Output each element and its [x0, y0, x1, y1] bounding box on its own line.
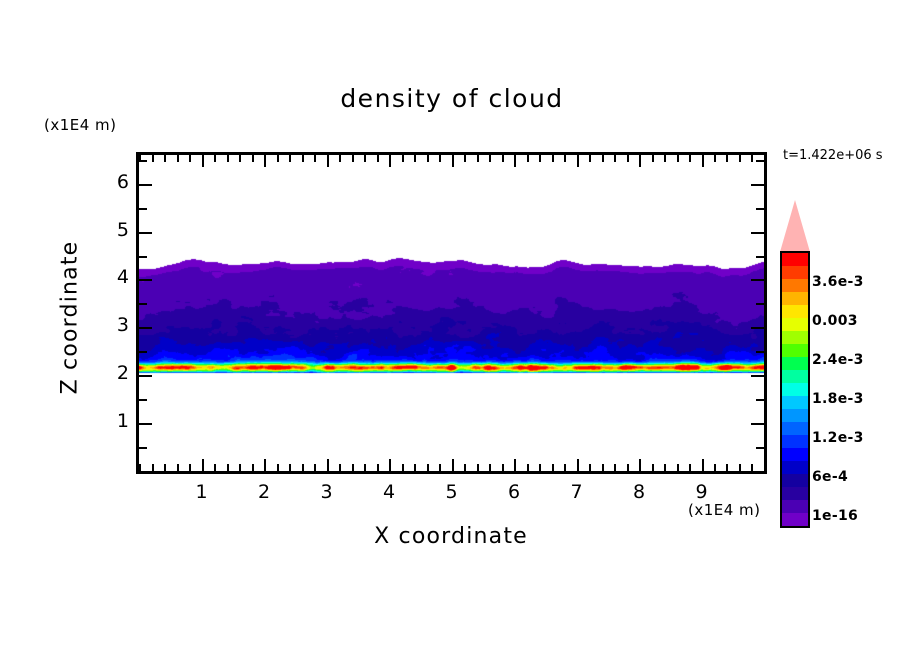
y-axis-title: Z coordinate	[58, 228, 83, 408]
x-minor-tick	[164, 464, 166, 471]
x-major-tick	[577, 459, 579, 471]
colorbar-band	[782, 357, 808, 370]
x-axis-title: X coordinate	[236, 524, 666, 549]
x-minor-tick	[177, 464, 179, 471]
y-minor-tick	[139, 303, 147, 305]
y-minor-tick-right	[756, 447, 764, 449]
colorbar-tick-label: 6e-4	[812, 469, 848, 485]
x-minor-tick	[652, 464, 654, 471]
x-minor-tick	[352, 464, 354, 471]
x-tick-label: 5	[422, 481, 482, 503]
x-minor-tick-top	[302, 155, 304, 162]
y-minor-tick	[139, 399, 147, 401]
colorbar-band	[782, 422, 808, 435]
y-minor-tick-right	[756, 208, 764, 210]
x-major-tick-top	[264, 155, 266, 167]
y-tick-label: 4	[99, 266, 129, 288]
x-minor-tick-top	[189, 155, 191, 162]
y-tick-label: 3	[99, 314, 129, 336]
x-minor-tick	[152, 464, 154, 471]
colorbar-tick-label: 2.4e-3	[812, 352, 864, 368]
x-major-tick-top	[639, 155, 641, 167]
y-tick-label: 2	[99, 362, 129, 384]
x-minor-tick-top	[239, 155, 241, 162]
x-major-tick-top	[202, 155, 204, 167]
colorbar-tick-label: 1.8e-3	[812, 391, 864, 407]
x-minor-tick-top	[539, 155, 541, 162]
x-minor-tick-top	[552, 155, 554, 162]
colorbar-band	[782, 266, 808, 279]
x-tick-label: 7	[547, 481, 607, 503]
y-major-tick	[139, 232, 152, 234]
x-minor-tick-top	[277, 155, 279, 162]
y-tick-label: 5	[99, 219, 129, 241]
x-minor-tick	[764, 464, 766, 471]
x-minor-tick-top	[614, 155, 616, 162]
y-major-tick-right	[751, 279, 764, 281]
colorbar-tick-label: 3.6e-3	[812, 274, 864, 290]
x-minor-tick	[214, 464, 216, 471]
y-minor-tick	[139, 351, 147, 353]
colorbar-tick-label: 0.003	[812, 313, 858, 329]
x-tick-label: 9	[672, 481, 732, 503]
x-minor-tick	[402, 464, 404, 471]
x-minor-tick	[564, 464, 566, 471]
x-tick-label: 4	[359, 481, 419, 503]
colorbar-band	[782, 435, 808, 448]
colorbar-band	[782, 383, 808, 396]
colorbar-bands	[780, 251, 810, 528]
x-minor-tick	[239, 464, 241, 471]
x-minor-tick-top	[464, 155, 466, 162]
colorbar-band	[782, 448, 808, 461]
x-minor-tick-top	[764, 155, 766, 162]
x-minor-tick-top	[602, 155, 604, 162]
y-major-tick	[139, 279, 152, 281]
x-major-tick-top	[389, 155, 391, 167]
x-minor-tick	[314, 464, 316, 471]
x-minor-tick-top	[402, 155, 404, 162]
y-major-tick	[139, 423, 152, 425]
x-minor-tick	[677, 464, 679, 471]
y-minor-tick	[139, 256, 147, 258]
x-tick-label: 6	[484, 481, 544, 503]
x-minor-tick	[726, 464, 728, 471]
x-minor-tick	[689, 464, 691, 471]
y-minor-tick	[139, 160, 147, 162]
x-major-tick	[389, 459, 391, 471]
x-minor-tick-top	[152, 155, 154, 162]
x-major-tick	[452, 459, 454, 471]
colorbar-band	[782, 461, 808, 474]
x-minor-tick-top	[439, 155, 441, 162]
x-minor-tick-top	[227, 155, 229, 162]
x-tick-label: 1	[172, 481, 232, 503]
x-axis-unit-label: (x1E4 m)	[688, 501, 761, 519]
x-minor-tick-top	[652, 155, 654, 162]
x-major-tick-top	[577, 155, 579, 167]
colorbar-band	[782, 370, 808, 383]
x-minor-tick	[739, 464, 741, 471]
x-major-tick-top	[452, 155, 454, 167]
x-minor-tick-top	[252, 155, 254, 162]
y-tick-label: 1	[99, 410, 129, 432]
colorbar-tick-label: 1.2e-3	[812, 430, 864, 446]
colorbar-band	[782, 279, 808, 292]
x-minor-tick-top	[502, 155, 504, 162]
y-minor-tick-right	[756, 351, 764, 353]
colorbar-band	[782, 513, 808, 526]
x-minor-tick-top	[352, 155, 354, 162]
x-major-tick-top	[327, 155, 329, 167]
x-minor-tick-top	[714, 155, 716, 162]
x-minor-tick-top	[477, 155, 479, 162]
x-minor-tick-top	[489, 155, 491, 162]
x-minor-tick	[377, 464, 379, 471]
x-minor-tick-top	[339, 155, 341, 162]
x-minor-tick-top	[564, 155, 566, 162]
y-major-tick-right	[751, 423, 764, 425]
x-major-tick	[264, 459, 266, 471]
x-minor-tick	[252, 464, 254, 471]
colorbar-band	[782, 474, 808, 487]
y-minor-tick-right	[756, 256, 764, 258]
y-minor-tick-right	[756, 399, 764, 401]
x-minor-tick-top	[214, 155, 216, 162]
colorbar-band	[782, 409, 808, 422]
x-minor-tick	[139, 464, 141, 471]
x-minor-tick	[602, 464, 604, 471]
y-major-tick	[139, 375, 152, 377]
y-tick-label: 6	[99, 171, 129, 193]
x-minor-tick-top	[414, 155, 416, 162]
x-major-tick	[202, 459, 204, 471]
x-minor-tick-top	[377, 155, 379, 162]
colorbar-tick-label: 1e-16	[812, 508, 858, 524]
y-major-tick	[139, 184, 152, 186]
y-major-tick-right	[751, 232, 764, 234]
x-minor-tick	[289, 464, 291, 471]
colorbar-band	[782, 318, 808, 331]
x-minor-tick	[439, 464, 441, 471]
x-major-tick	[514, 459, 516, 471]
x-minor-tick-top	[364, 155, 366, 162]
x-minor-tick-top	[589, 155, 591, 162]
x-minor-tick	[339, 464, 341, 471]
x-minor-tick-top	[177, 155, 179, 162]
x-minor-tick	[552, 464, 554, 471]
x-minor-tick	[414, 464, 416, 471]
x-major-tick-top	[514, 155, 516, 167]
colorbar-band	[782, 344, 808, 357]
x-minor-tick-top	[164, 155, 166, 162]
y-axis-unit-label: (x1E4 m)	[44, 116, 117, 134]
x-minor-tick	[627, 464, 629, 471]
x-minor-tick-top	[689, 155, 691, 162]
x-minor-tick-top	[664, 155, 666, 162]
x-minor-tick	[751, 464, 753, 471]
x-minor-tick	[364, 464, 366, 471]
x-minor-tick	[227, 464, 229, 471]
colorbar-arrow-cap	[780, 200, 810, 252]
x-major-tick	[639, 459, 641, 471]
x-major-tick-top	[702, 155, 704, 167]
x-minor-tick	[427, 464, 429, 471]
x-minor-tick-top	[739, 155, 741, 162]
x-minor-tick	[714, 464, 716, 471]
x-minor-tick	[302, 464, 304, 471]
x-tick-label: 2	[234, 481, 294, 503]
x-minor-tick	[277, 464, 279, 471]
plot-area	[136, 152, 767, 474]
x-minor-tick	[589, 464, 591, 471]
colorbar-band	[782, 500, 808, 513]
colorbar-band	[782, 396, 808, 409]
y-minor-tick-right	[756, 160, 764, 162]
x-minor-tick-top	[314, 155, 316, 162]
contour-field	[139, 155, 764, 471]
y-minor-tick	[139, 447, 147, 449]
x-minor-tick	[527, 464, 529, 471]
x-tick-label: 8	[609, 481, 669, 503]
x-minor-tick-top	[751, 155, 753, 162]
time-annotation: t=1.422e+06 s	[783, 148, 883, 163]
x-major-tick	[702, 459, 704, 471]
x-minor-tick-top	[527, 155, 529, 162]
y-minor-tick-right	[756, 303, 764, 305]
y-major-tick-right	[751, 375, 764, 377]
page-title: density of cloud	[0, 84, 904, 113]
y-major-tick-right	[751, 327, 764, 329]
colorbar-band	[782, 292, 808, 305]
x-minor-tick	[189, 464, 191, 471]
x-minor-tick	[489, 464, 491, 471]
x-minor-tick-top	[677, 155, 679, 162]
y-minor-tick	[139, 208, 147, 210]
x-minor-tick	[664, 464, 666, 471]
x-major-tick	[327, 459, 329, 471]
colorbar-band	[782, 305, 808, 318]
x-minor-tick	[539, 464, 541, 471]
x-minor-tick	[464, 464, 466, 471]
x-tick-label: 3	[297, 481, 357, 503]
x-minor-tick	[502, 464, 504, 471]
colorbar-band	[782, 331, 808, 344]
y-major-tick-right	[751, 184, 764, 186]
y-major-tick	[139, 327, 152, 329]
x-minor-tick-top	[427, 155, 429, 162]
x-minor-tick-top	[726, 155, 728, 162]
x-minor-tick-top	[289, 155, 291, 162]
colorbar-band	[782, 487, 808, 500]
colorbar-band	[782, 253, 808, 266]
x-minor-tick	[614, 464, 616, 471]
figure-root: density of cloud (x1E4 m) (x1E4 m) X coo…	[0, 0, 904, 654]
x-minor-tick-top	[627, 155, 629, 162]
x-minor-tick	[477, 464, 479, 471]
